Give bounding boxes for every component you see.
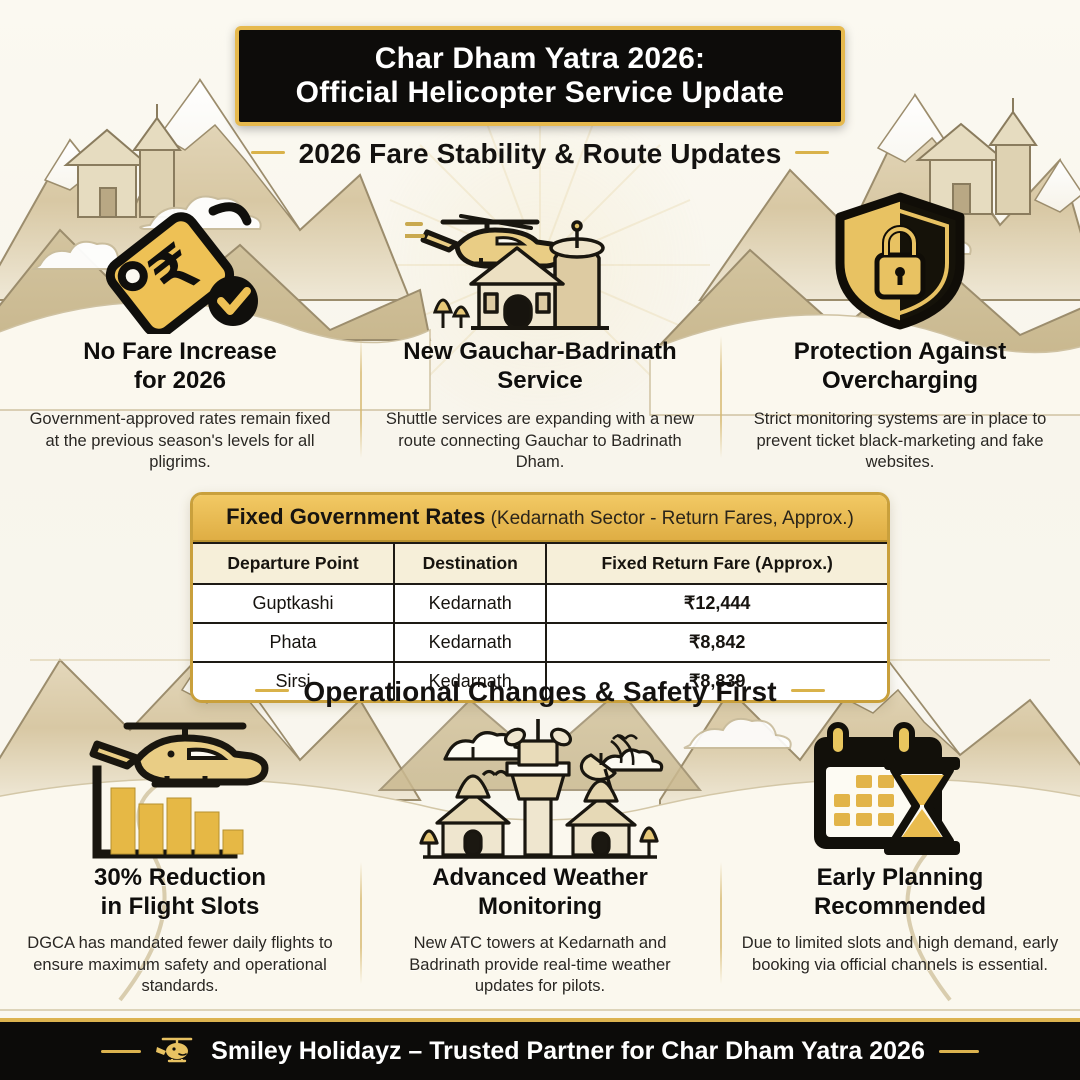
divider-dash-right bbox=[795, 151, 829, 154]
cell-destination: Kedarnath bbox=[394, 584, 546, 623]
calendar-hourglass-icon bbox=[800, 712, 1000, 862]
feature-card-protection-overcharging: Protection Against Overcharging Strict m… bbox=[720, 186, 1080, 476]
table-row: Guptkashi Kedarnath ₹12,444 bbox=[193, 584, 887, 623]
feature-title-line-2: in Flight Slots bbox=[101, 893, 260, 920]
feature-title-line-1: 30% Reduction bbox=[94, 864, 266, 891]
feature-description: Government-approved rates remain fixed a… bbox=[25, 409, 335, 475]
section-heading-text: 2026 Fare Stability & Route Updates bbox=[299, 138, 782, 169]
feature-description: Strict monitoring systems are in place t… bbox=[745, 409, 1055, 475]
column-header-destination: Destination bbox=[394, 543, 546, 584]
section-heading-operational-changes: Operational Changes & Safety First bbox=[0, 676, 1080, 708]
footer-dash-right bbox=[939, 1050, 979, 1053]
feature-row-top: ₹ No Fare Increase for 2026 Government-a… bbox=[0, 186, 1080, 476]
feature-title-line-2: Monitoring bbox=[478, 893, 602, 920]
cell-departure: Phata bbox=[193, 623, 394, 662]
feature-description: New ATC towers at Kedarnath and Badrinat… bbox=[381, 933, 699, 999]
footer-bar: Smiley Holidayz – Trusted Partner for Ch… bbox=[0, 1018, 1080, 1080]
table-row: Phata Kedarnath ₹8,842 bbox=[193, 623, 887, 662]
feature-title-line-1: Protection Against bbox=[794, 338, 1006, 365]
feature-title-line-1: Advanced Weather bbox=[432, 864, 648, 891]
feature-card-gauchar-badrinath: New Gauchar-Badrinath Service Shuttle se… bbox=[360, 186, 720, 476]
feature-card-weather-monitoring: Advanced Weather Monitoring New ATC towe… bbox=[360, 712, 720, 1002]
cell-fare: ₹8,842 bbox=[546, 623, 887, 662]
feature-description: Shuttle services are expanding with a ne… bbox=[385, 409, 695, 475]
infographic-page: Char Dham Yatra 2026: Official Helicopte… bbox=[0, 0, 1080, 1080]
section-heading-fare-stability: 2026 Fare Stability & Route Updates bbox=[0, 138, 1080, 170]
rates-banner-subtitle: (Kedarnath Sector - Return Fares, Approx… bbox=[485, 508, 854, 529]
feature-card-early-planning: Early Planning Recommended Due to limite… bbox=[720, 712, 1080, 1002]
column-header-departure: Departure Point bbox=[193, 543, 394, 584]
feature-title-line-2: Service bbox=[497, 367, 582, 394]
divider-dash-left bbox=[251, 151, 285, 154]
feature-title-line-2: Overcharging bbox=[822, 367, 978, 394]
feature-title-line-2: Recommended bbox=[814, 893, 986, 920]
page-title-line-1: Char Dham Yatra 2026: bbox=[375, 42, 705, 76]
helicopter-over-temple-icon bbox=[405, 186, 675, 336]
cell-fare: ₹12,444 bbox=[546, 584, 887, 623]
page-title-plate: Char Dham Yatra 2026: Official Helicopte… bbox=[235, 26, 845, 126]
feature-title-line-1: No Fare Increase bbox=[83, 338, 276, 365]
feature-title-line-1: New Gauchar-Badrinath bbox=[403, 338, 676, 365]
feature-title-line-1: Early Planning bbox=[817, 864, 984, 891]
feature-description: DGCA has mandated fewer daily flights to… bbox=[21, 933, 339, 999]
feature-title: 30% Reduction in Flight Slots bbox=[94, 864, 266, 922]
cell-destination: Kedarnath bbox=[394, 623, 546, 662]
feature-description: Due to limited slots and high demand, ea… bbox=[741, 933, 1059, 977]
feature-title: Protection Against Overcharging bbox=[794, 338, 1006, 396]
atc-tower-radar-temples-icon bbox=[415, 712, 665, 862]
feature-card-no-fare-increase: ₹ No Fare Increase for 2026 Government-a… bbox=[0, 186, 360, 476]
feature-row-bottom: 30% Reduction in Flight Slots DGCA has m… bbox=[0, 712, 1080, 1002]
shield-lock-icon bbox=[825, 186, 975, 336]
footer-text: Smiley Holidayz – Trusted Partner for Ch… bbox=[211, 1037, 925, 1066]
feature-title-line-2: for 2026 bbox=[134, 367, 226, 394]
helicopter-icon bbox=[155, 1032, 197, 1071]
helicopter-declining-bar-chart-icon bbox=[75, 712, 285, 862]
divider-dash-right bbox=[791, 689, 825, 692]
divider-dash-left bbox=[255, 689, 289, 692]
feature-title: Advanced Weather Monitoring bbox=[432, 864, 648, 922]
page-title-line-2: Official Helicopter Service Update bbox=[296, 76, 785, 110]
feature-title: No Fare Increase for 2026 bbox=[83, 338, 276, 396]
table-header-row: Departure Point Destination Fixed Return… bbox=[193, 543, 887, 584]
footer-dash-left bbox=[101, 1050, 141, 1053]
feature-title: New Gauchar-Badrinath Service bbox=[403, 338, 676, 396]
price-tag-rupee-check-icon: ₹ bbox=[85, 186, 275, 336]
column-header-fare: Fixed Return Fare (Approx.) bbox=[546, 543, 887, 584]
rates-table-banner: Fixed Government Rates (Kedarnath Sector… bbox=[193, 495, 887, 542]
cell-departure: Guptkashi bbox=[193, 584, 394, 623]
rates-banner-title: Fixed Government Rates bbox=[226, 504, 485, 529]
feature-title: Early Planning Recommended bbox=[814, 864, 986, 922]
feature-card-flight-slot-reduction: 30% Reduction in Flight Slots DGCA has m… bbox=[0, 712, 360, 1002]
fixed-government-rates-table: Fixed Government Rates (Kedarnath Sector… bbox=[190, 492, 890, 703]
section-heading-text: Operational Changes & Safety First bbox=[303, 676, 776, 707]
